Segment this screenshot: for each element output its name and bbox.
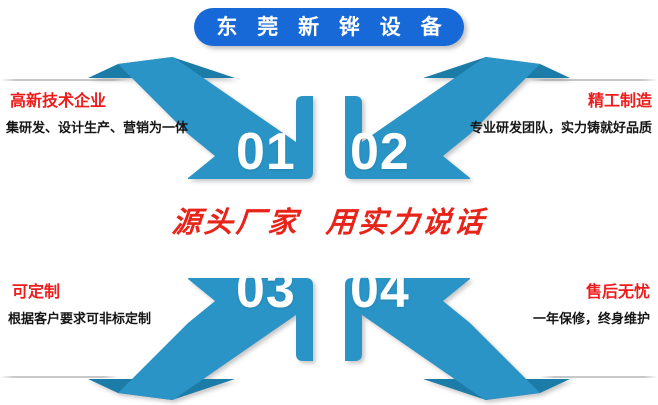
step-number-04: 04 [350,264,410,316]
feature-block-02: 精工制造 专业研发团队，实力铸就好品质 [470,92,652,136]
arrow-graphics-layer [0,0,658,405]
feature-01-heading: 高新技术企业 [10,92,188,111]
feature-03-description: 根据客户要求可非标定制 [8,311,151,327]
feature-04-description: 一年保修，终身维护 [533,311,650,327]
step-number-02: 02 [350,126,410,178]
feature-03-heading: 可定制 [12,283,151,302]
feature-block-04: 售后无忧 一年保修，终身维护 [533,283,650,327]
feature-01-description: 集研发、设计生产、营销为一体 [6,120,188,136]
center-slogan-text: 源头厂家 用实力说话 [171,208,488,237]
center-slogan: 源头厂家 用实力说话 [0,208,658,237]
feature-block-01: 高新技术企业 集研发、设计生产、营销为一体 [6,92,188,136]
company-title-text: 东 莞 新 铧 设 备 [209,17,448,38]
step-number-03: 03 [236,264,296,316]
company-title-banner: 东 莞 新 铧 设 备 [194,8,464,46]
infographic-canvas: 东 莞 新 铧 设 备 01 02 03 04 高新技术企业 集研发、设计生产、… [0,0,658,405]
step-number-01: 01 [236,126,296,178]
feature-02-heading: 精工制造 [470,92,652,111]
feature-block-03: 可定制 根据客户要求可非标定制 [8,283,151,327]
feature-04-heading: 售后无忧 [533,283,650,302]
feature-02-description: 专业研发团队，实力铸就好品质 [470,120,652,136]
